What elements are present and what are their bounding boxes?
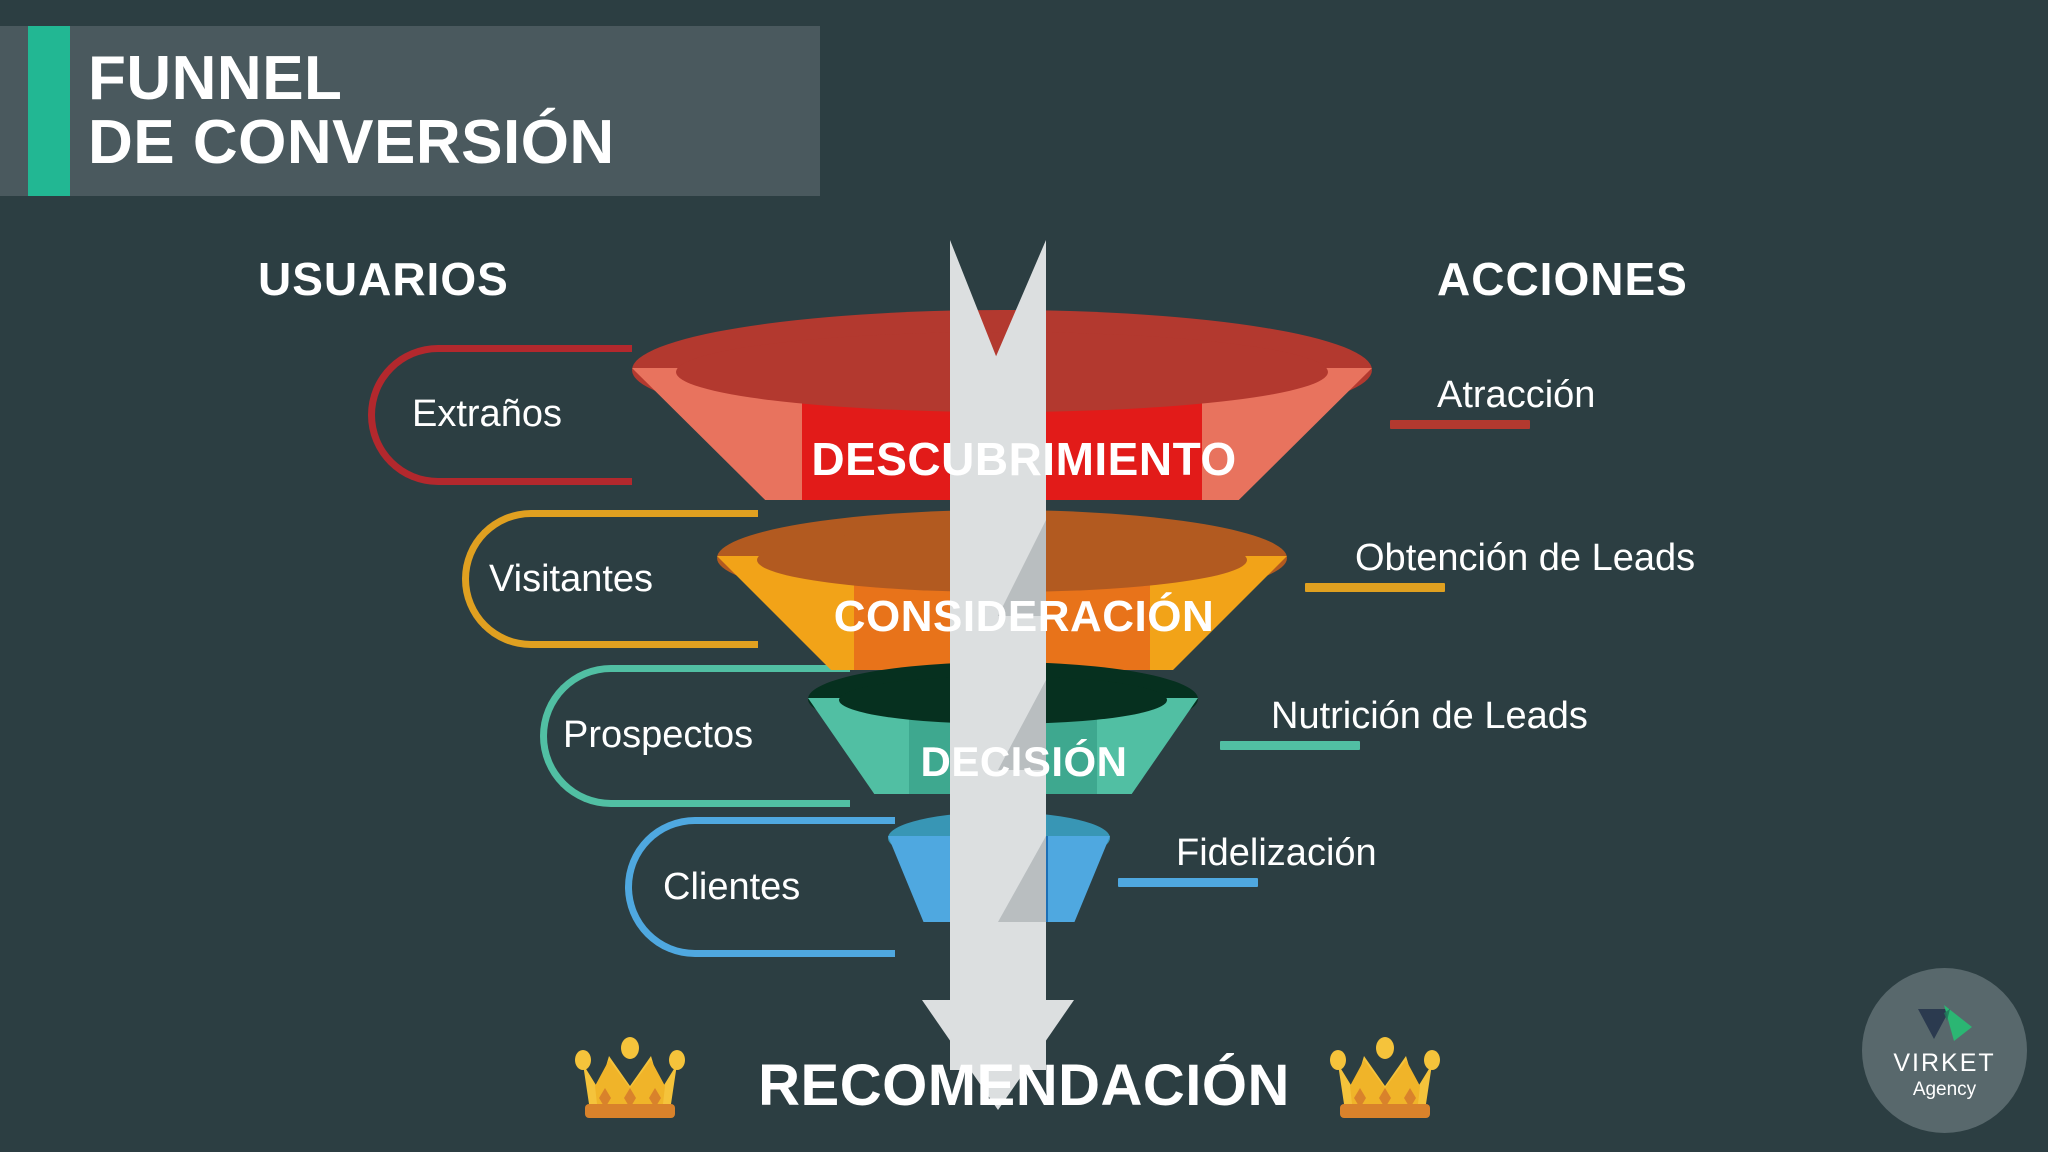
right-underline-atraccion — [1390, 420, 1530, 429]
right-label-obtencion-leads: Obtención de Leads — [1355, 537, 1695, 580]
page-title: FUNNEL DE CONVERSIÓN — [88, 28, 808, 194]
infographic-canvas: FUNNEL DE CONVERSIÓN USUARIOS ACCIONES D… — [0, 0, 2048, 1152]
right-label-nutricion-leads: Nutrición de Leads — [1271, 695, 1588, 738]
right-label-atraccion: Atracción — [1437, 374, 1595, 417]
right-underline-obtencion-leads — [1305, 583, 1445, 592]
funnel-flow-arrow-shaft — [950, 240, 1046, 1070]
funnel-outcome-label: RECOMENDACIÓN — [0, 1052, 2048, 1119]
title-accent-bar — [28, 26, 70, 196]
virket-logo-mark — [1914, 1003, 1976, 1047]
logo-name: VIRKET — [1893, 1051, 1995, 1076]
virket-agency-logo[interactable]: VIRKET Agency — [1862, 968, 2027, 1133]
column-heading-acciones: ACCIONES — [1437, 252, 1688, 306]
stage-label-decision: DECISIÓN — [0, 738, 2048, 786]
crown-icon — [1330, 1030, 1440, 1122]
column-heading-usuarios: USUARIOS — [258, 252, 509, 306]
right-underline-fidelizacion — [1118, 878, 1258, 887]
stage-label-consideracion: CONSIDERACIÓN — [0, 592, 2048, 642]
right-label-fidelizacion: Fidelización — [1176, 832, 1377, 875]
stage-label-descubrimiento: DESCUBRIMIENTO — [0, 432, 2048, 486]
title-line-2: DE CONVERSIÓN — [88, 111, 808, 175]
title-line-1: FUNNEL — [88, 47, 808, 111]
left-label-extranos: Extraños — [412, 393, 562, 436]
left-label-clientes: Clientes — [663, 866, 800, 909]
logo-subtitle: Agency — [1913, 1080, 1976, 1099]
